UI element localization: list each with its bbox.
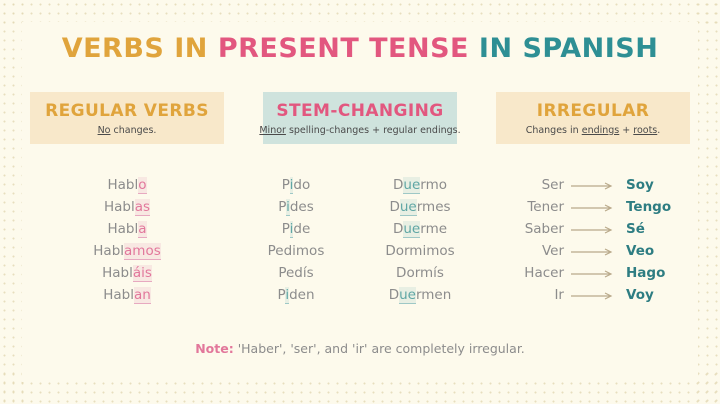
stem-changing-verb-row: Pedimos — [268, 242, 325, 261]
irregular-verb-row: VerVeo — [498, 242, 690, 261]
irregular-verb-row: TenerTengo — [498, 198, 690, 217]
page-title: VERBS IN PRESENT TENSE IN SPANISH — [0, 33, 720, 64]
stem-verb-prefix: D — [389, 199, 399, 215]
irregular-verb-conjugated: Sé — [622, 220, 690, 239]
stem-changing-verb-row: Duermen — [389, 286, 452, 305]
stem-verb-suffix: rme — [420, 221, 447, 237]
stem-verb-changed-letters: ue — [403, 221, 420, 238]
regular-verb-ending: as — [135, 199, 150, 216]
stem-changing-verb-row: Piden — [277, 286, 314, 305]
irregular-verb-row: HacerHago — [498, 264, 690, 283]
header-irregular-underlined-roots: roots — [633, 125, 657, 136]
stem-changing-verb-row: Pide — [282, 220, 311, 239]
stem-changing-verb-row: Duerme — [393, 220, 447, 239]
stem-changing-verb-row: Pido — [282, 176, 310, 195]
header-irregular-sub-pre: Changes in — [526, 125, 582, 136]
stem-changing-verb-row: Dormís — [396, 264, 444, 283]
stem-verb-suffix: de — [293, 221, 310, 237]
column-irregular-verbs: SerSoyTenerTengoSaberSéVerVeoHacerHagoIr… — [498, 176, 690, 305]
stem-verb-prefix: P — [282, 221, 290, 237]
regular-verb-row: Hablas — [104, 198, 150, 217]
stem-verb-prefix: Dormimos — [385, 243, 454, 259]
arrow-right-icon — [564, 270, 622, 278]
stem-verb-suffix: des — [290, 199, 314, 215]
arrow-right-icon — [564, 226, 622, 234]
irregular-verb-row: SerSoy — [498, 176, 690, 195]
stem-verb-prefix: P — [282, 177, 290, 193]
header-irregular: IRREGULAR Changes in endings + roots. — [496, 92, 690, 144]
poster-content: VERBS IN PRESENT TENSE IN SPANISH REGULA… — [0, 0, 720, 404]
stem-changing-verb-row: Pedís — [278, 264, 313, 283]
header-stem-changing-title: STEM-CHANGING — [276, 102, 443, 121]
title-part-present-tense: PRESENT TENSE — [218, 33, 469, 64]
infographic-poster: VERBS IN PRESENT TENSE IN SPANISH REGULA… — [0, 0, 720, 404]
arrow-right-icon — [564, 292, 622, 300]
footer-note-text: 'Haber', 'ser', and 'ir' are completely … — [234, 341, 525, 356]
stem-changing-verb-row: Dormimos — [385, 242, 454, 261]
header-stem-underlined-word: Minor — [259, 125, 286, 136]
irregular-verb-conjugated: Soy — [622, 176, 690, 195]
header-irregular-sub-amp: + — [619, 125, 633, 136]
column-regular-verbs: HabloHablasHablaHablamosHabláisHablan — [30, 176, 224, 305]
irregular-verb-conjugated: Hago — [622, 264, 690, 283]
header-stem-subtitle-rest: spelling-changes + regular endings. — [286, 125, 461, 136]
irregular-verb-infinitive: Ser — [498, 176, 564, 195]
regular-verb-stem: Habl — [107, 221, 138, 237]
regular-verb-ending: an — [134, 287, 151, 304]
stem-verb-changed-letters: ue — [400, 199, 417, 216]
regular-verb-stem: Habl — [93, 243, 124, 259]
column-stem-changing-pedir: PidoPidesPidePedimosPedísPiden — [246, 176, 346, 305]
header-irregular-underlined-endings: endings — [582, 125, 620, 136]
stem-verb-prefix: D — [393, 177, 403, 193]
irregular-verb-row: IrVoy — [498, 286, 690, 305]
header-irregular-title: IRREGULAR — [537, 102, 650, 121]
regular-verb-stem: Habl — [104, 199, 135, 215]
header-irregular-sub-post: . — [657, 125, 660, 136]
header-irregular-subtitle: Changes in endings + roots. — [526, 125, 661, 136]
conjugation-columns: HabloHablasHablaHablamosHabláisHablan Pi… — [30, 176, 690, 311]
header-regular-verbs-subtitle: No changes. — [98, 125, 157, 136]
stem-verb-suffix: rmo — [420, 177, 447, 193]
irregular-verb-infinitive: Ver — [498, 242, 564, 261]
arrow-right-icon — [564, 204, 622, 212]
regular-verb-row: Habláis — [102, 264, 152, 283]
regular-verb-stem: Habl — [103, 287, 134, 303]
column-stem-changing-dormir: DuermoDuermesDuermeDormimosDormísDuermen — [360, 176, 480, 305]
stem-verb-prefix: Pedimos — [268, 243, 325, 259]
category-headers: REGULAR VERBS No changes. STEM-CHANGING … — [30, 92, 690, 144]
irregular-verb-conjugated: Voy — [622, 286, 690, 305]
regular-verb-ending: amos — [124, 243, 161, 260]
regular-verb-row: Hablo — [107, 176, 146, 195]
stem-verb-prefix: D — [389, 287, 399, 303]
irregular-verb-infinitive: Hacer — [498, 264, 564, 283]
footer-note: Note: 'Haber', 'ser', and 'ir' are compl… — [0, 341, 720, 356]
title-part-in-spanish: IN SPANISH — [479, 33, 658, 64]
header-stem-changing-subtitle: Minor spelling-changes + regular endings… — [259, 125, 460, 136]
regular-verb-row: Hablan — [103, 286, 151, 305]
header-regular-underlined-word: No — [98, 125, 111, 136]
stem-verb-suffix: rmen — [416, 287, 451, 303]
stem-changing-verb-row: Pides — [278, 198, 314, 217]
stem-verb-prefix: Pedís — [278, 265, 313, 281]
regular-verb-stem: Habl — [102, 265, 133, 281]
regular-verb-ending: o — [138, 177, 146, 194]
regular-verb-ending: áis — [133, 265, 152, 282]
irregular-verb-row: SaberSé — [498, 220, 690, 239]
stem-verb-suffix: rmes — [417, 199, 451, 215]
irregular-verb-infinitive: Ir — [498, 286, 564, 305]
irregular-verb-conjugated: Veo — [622, 242, 690, 261]
stem-verb-changed-letters: ue — [399, 287, 416, 304]
header-regular-verbs: REGULAR VERBS No changes. — [30, 92, 224, 144]
header-regular-subtitle-rest: changes. — [110, 125, 156, 136]
stem-changing-verb-row: Duermo — [393, 176, 447, 195]
regular-verb-row: Hablamos — [93, 242, 160, 261]
stem-verb-changed-letters: ue — [403, 177, 420, 194]
stem-verb-suffix: den — [289, 287, 314, 303]
title-part-verbs-in: VERBS IN — [62, 33, 208, 64]
stem-verb-suffix: do — [293, 177, 310, 193]
stem-verb-prefix: P — [278, 199, 286, 215]
regular-verb-row: Habla — [107, 220, 146, 239]
arrow-right-icon — [564, 248, 622, 256]
irregular-verb-infinitive: Tener — [498, 198, 564, 217]
stem-verb-prefix: Dormís — [396, 265, 444, 281]
stem-changing-verb-row: Duermes — [389, 198, 450, 217]
regular-verb-stem: Habl — [107, 177, 138, 193]
stem-verb-prefix: D — [393, 221, 403, 237]
header-regular-verbs-title: REGULAR VERBS — [45, 102, 209, 121]
header-stem-changing: STEM-CHANGING Minor spelling-changes + r… — [263, 92, 457, 144]
footer-note-label: Note: — [195, 341, 234, 356]
irregular-verb-conjugated: Tengo — [622, 198, 690, 217]
arrow-right-icon — [564, 182, 622, 190]
irregular-verb-infinitive: Saber — [498, 220, 564, 239]
regular-verb-ending: a — [138, 221, 146, 238]
